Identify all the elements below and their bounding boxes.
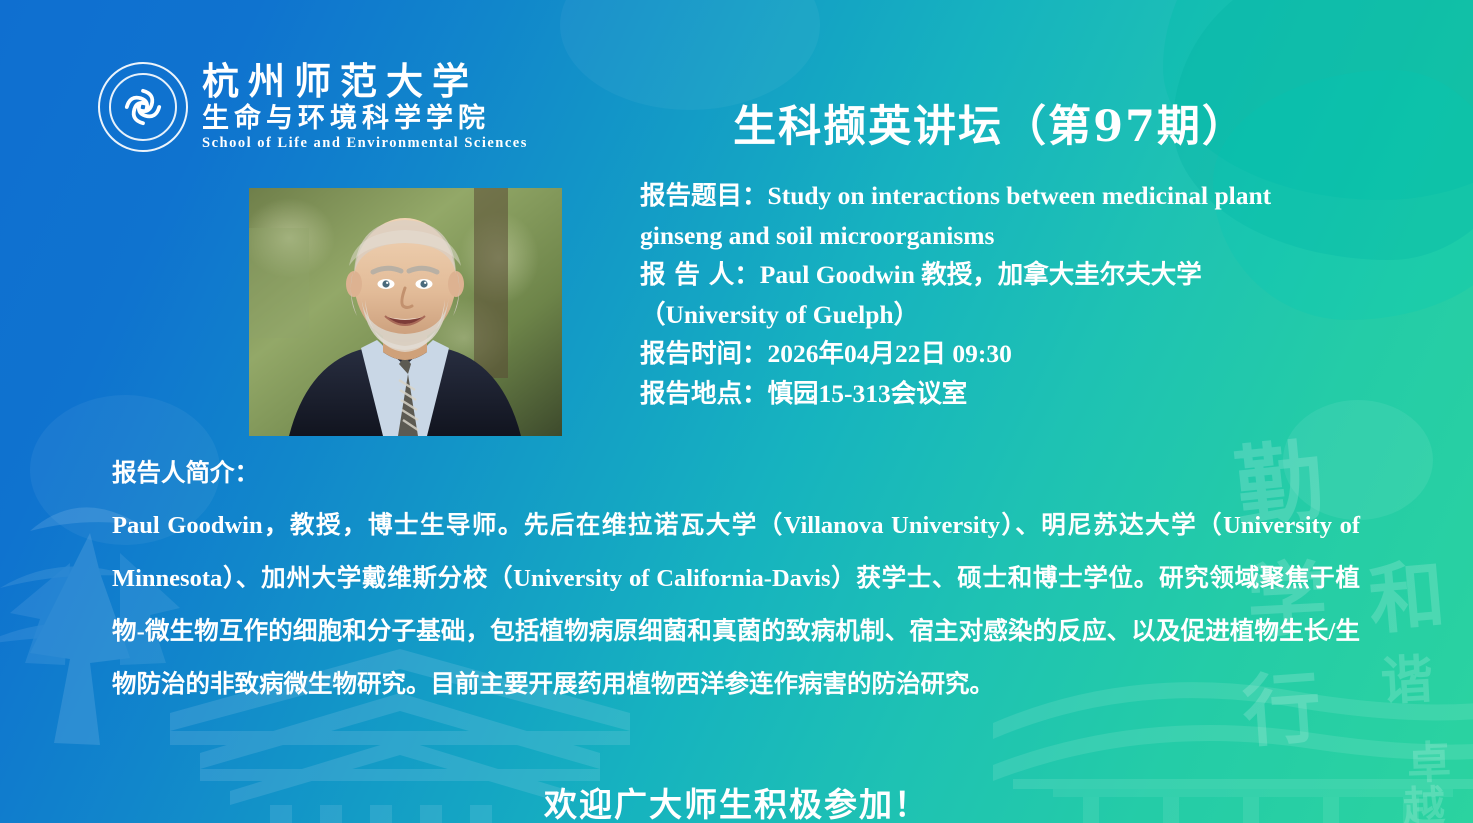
invitation-note: 欢迎广大师生积极参加！ (0, 778, 1473, 823)
seal-swirl-icon (116, 80, 170, 134)
speaker-affiliation-value: （University of Guelph） (640, 300, 919, 329)
seminar-poster: 勤 学 行 和 谐 卓 越 杭州师范大学 生命与环境科学学院 School of… (0, 0, 1473, 823)
detail-venue: 报告地点：慎园15-313会议室 (640, 374, 1352, 414)
event-details: 报告题目：Study on interactions between medic… (640, 176, 1352, 414)
bio-heading: 报告人简介： (112, 446, 1360, 499)
venue-value: 慎园15-313会议室 (768, 379, 968, 408)
detail-speaker: 报 告 人：Paul Goodwin 教授，加拿大圭尔夫大学 (640, 255, 1352, 295)
time-label: 报告时间： (640, 339, 768, 369)
detail-time: 报告时间：2026年04月22日 09:30 (640, 334, 1352, 374)
speaker-bio: 报告人简介： Paul Goodwin，教授，博士生导师。先后在维拉诺瓦大学（V… (112, 446, 1360, 711)
speaker-value: Paul Goodwin 教授，加拿大圭尔夫大学 (760, 260, 1202, 289)
detail-topic: 报告题目：Study on interactions between medic… (640, 176, 1352, 255)
speaker-label: 报 告 人： (640, 260, 760, 290)
detail-speaker-affiliation: （University of Guelph） (640, 295, 1352, 334)
poster-headline: 生科撷英讲坛（第97期） (640, 92, 1340, 154)
topic-label: 报告题目： (640, 181, 768, 211)
bio-text: Paul Goodwin，教授，博士生导师。先后在维拉诺瓦大学（Villanov… (112, 499, 1360, 711)
venue-label: 报告地点： (640, 379, 768, 409)
logo-university-name: 杭州师范大学 (202, 63, 528, 100)
speaker-photo (249, 188, 562, 436)
logo-college-name: 生命与环境科学学院 (202, 105, 528, 132)
calligraphy-watermark-he: 和 (1366, 557, 1448, 639)
school-seal-icon (98, 62, 188, 152)
time-value: 2026年04月22日 09:30 (768, 339, 1012, 368)
school-logo: 杭州师范大学 生命与环境科学学院 School of Life and Envi… (98, 62, 528, 152)
calligraphy-watermark-xie: 谐 (1380, 654, 1435, 709)
speaker-portrait-image (249, 188, 562, 436)
logo-college-name-en: School of Life and Environmental Science… (202, 136, 528, 151)
